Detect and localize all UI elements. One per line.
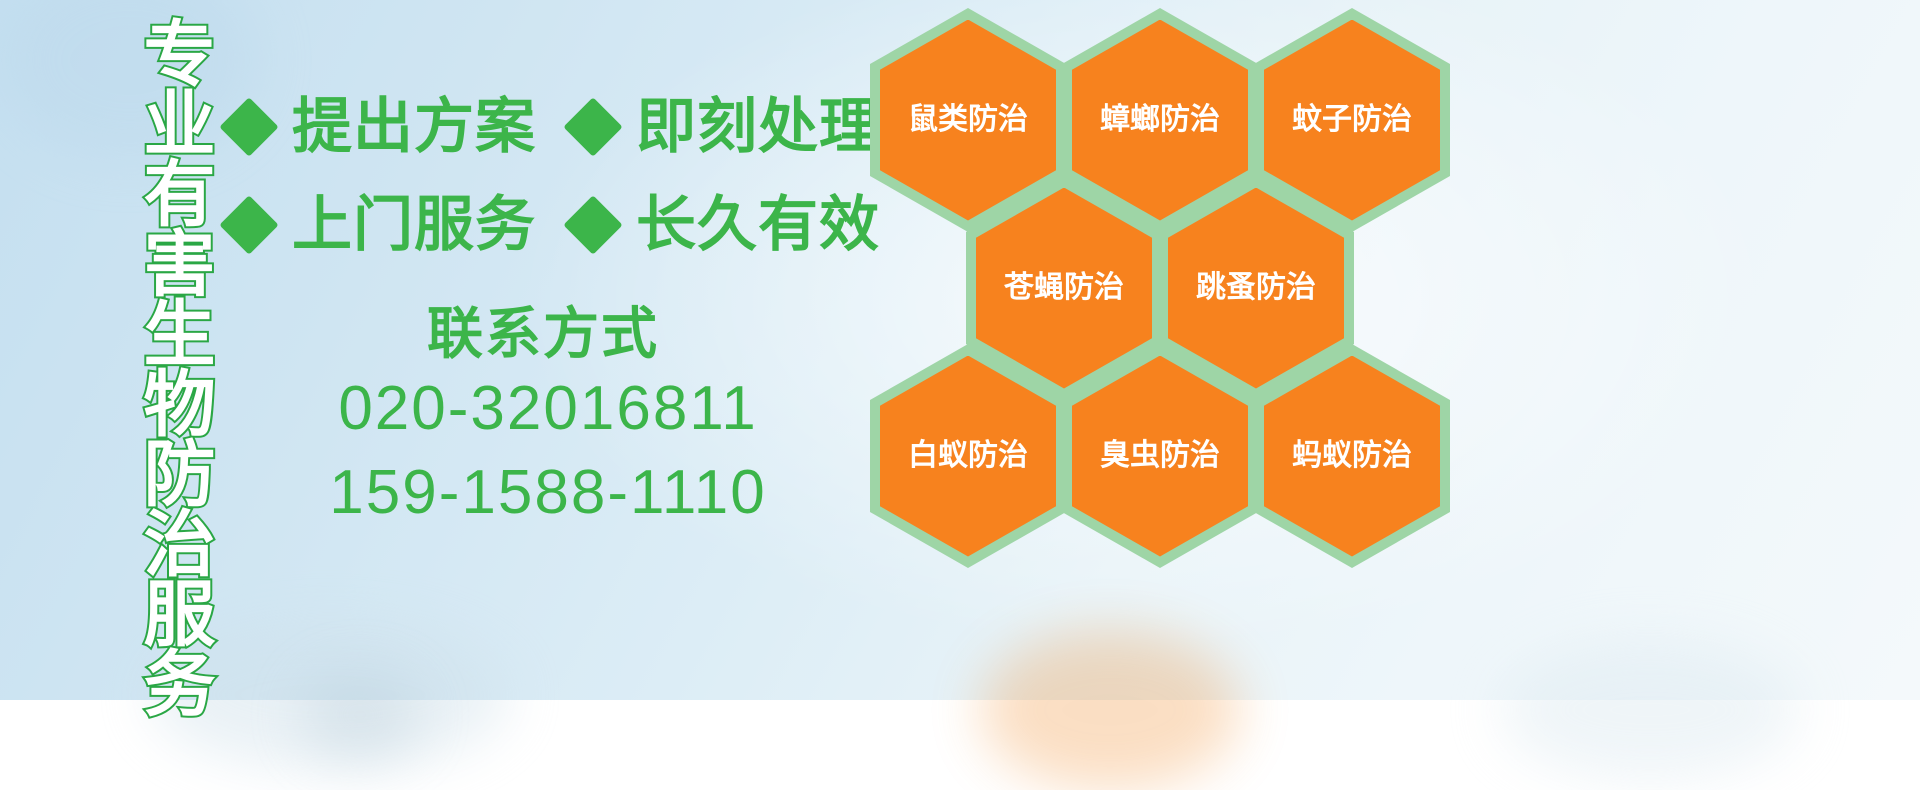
hex-label: 鼠类防治 (908, 105, 1028, 135)
hex-inner: 臭虫防治 (1072, 356, 1248, 557)
vertical-headline: 专业有害生物防治服务 (110, 16, 206, 716)
hex-inner: 蚊子防治 (1264, 20, 1440, 221)
hex-label: 蚊子防治 (1292, 105, 1412, 135)
contact-heading: 联系方式 (218, 300, 868, 367)
feature-label: 上门服务 (292, 195, 536, 255)
hex-label: 苍蝇防治 (1004, 273, 1124, 303)
hex-inner: 蚂蚁防治 (1264, 356, 1440, 557)
pest-control-banner: 专业有害生物防治服务 提出方案 即刻处理 上门服务 长久有效 联系方式 (0, 0, 1920, 700)
hex-label: 跳蚤防治 (1196, 273, 1316, 303)
background-blur-blob (1500, 640, 1800, 780)
diamond-icon (219, 97, 278, 156)
hex-label: 臭虫防治 (1100, 441, 1220, 471)
hex-inner: 鼠类防治 (880, 20, 1056, 221)
feature-row: 上门服务 长久有效 (228, 176, 868, 274)
diamond-icon (219, 195, 278, 254)
phone-number-mobile[interactable]: 159-1588-1110 (228, 451, 868, 535)
hex-label: 蟑螂防治 (1100, 105, 1220, 135)
service-honeycomb: 鼠类防治 蟑螂防治 蚊子防治 苍蝇防治 跳蚤防治 白蚁防治 (856, 0, 1476, 560)
feature-item: 提出方案 (228, 97, 536, 157)
contact-block: 联系方式 020-32016811 159-1588-1110 (228, 300, 868, 535)
hex-inner: 跳蚤防治 (1168, 188, 1344, 389)
diamond-icon (563, 97, 622, 156)
background-blur-blob (980, 630, 1240, 790)
feature-label: 长久有效 (636, 195, 880, 255)
hex-inner: 苍蝇防治 (976, 188, 1152, 389)
hex-inner: 白蚁防治 (880, 356, 1056, 557)
feature-item: 即刻处理 (572, 97, 880, 157)
hex-label: 白蚁防治 (908, 441, 1028, 471)
hex-label: 蚂蚁防治 (1292, 441, 1412, 471)
feature-list: 提出方案 即刻处理 上门服务 长久有效 (228, 78, 868, 274)
phone-number-landline[interactable]: 020-32016811 (228, 367, 868, 451)
feature-label: 提出方案 (292, 97, 536, 157)
hex-inner: 蟑螂防治 (1072, 20, 1248, 221)
diamond-icon (563, 195, 622, 254)
feature-label: 即刻处理 (636, 97, 880, 157)
feature-row: 提出方案 即刻处理 (228, 78, 868, 176)
background-blur-blob (300, 670, 420, 760)
feature-item: 上门服务 (228, 195, 536, 255)
feature-item: 长久有效 (572, 195, 880, 255)
